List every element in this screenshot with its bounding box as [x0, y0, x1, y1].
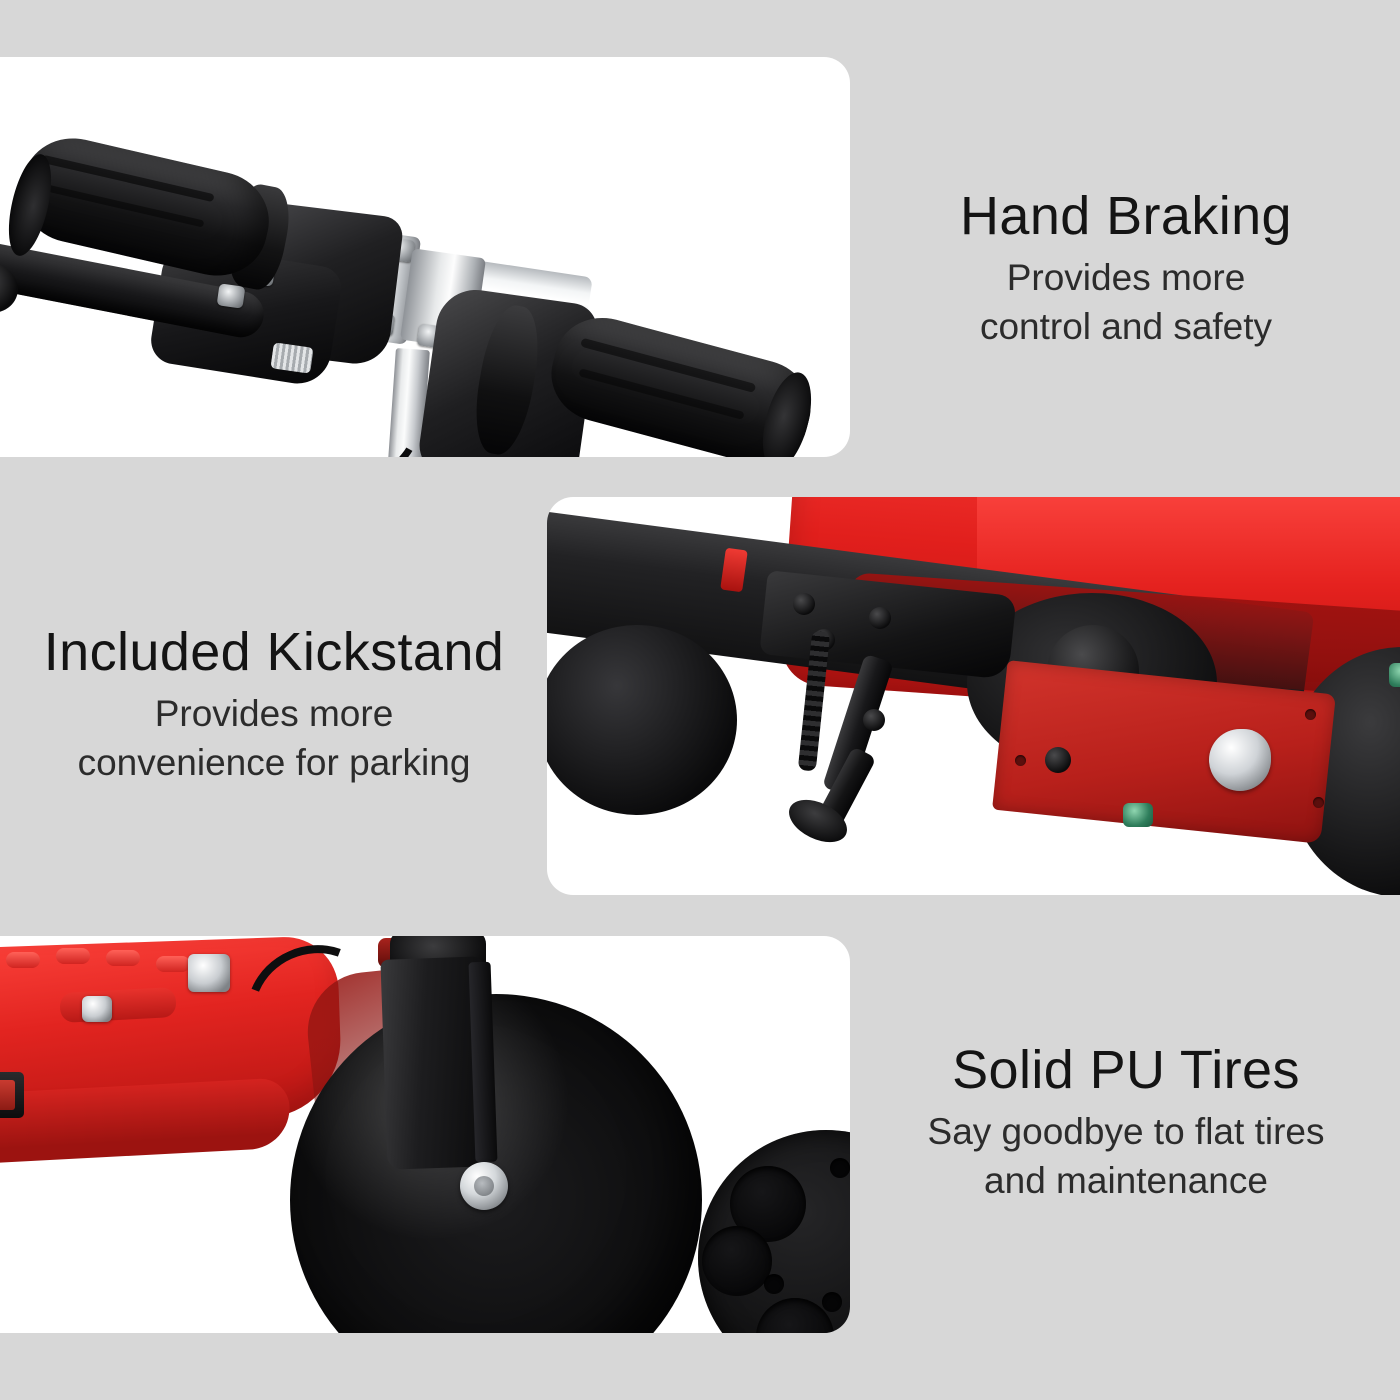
- feature-subline-line1: Provides more: [0, 690, 548, 738]
- vent-hole-1: [830, 1158, 850, 1178]
- deck-tread-rib-1: [6, 952, 40, 968]
- front-deck-lip: [0, 1077, 292, 1164]
- feature-text-included-kickstand: Included Kickstand Provides more conveni…: [0, 622, 548, 787]
- feature-photo-solid-pu-tires: [0, 936, 850, 1333]
- kickstand-pivot-bolt-icon: [863, 709, 885, 731]
- feature-photo-included-kickstand: [547, 497, 1400, 895]
- deck-bolt-pad: [59, 987, 176, 1023]
- wheel-axle-bolt: [460, 1162, 508, 1210]
- feature-subline-line1: Say goodbye to flat tires: [852, 1108, 1400, 1156]
- axle-silver-nut: [1209, 729, 1271, 791]
- front-wheel-partial: [547, 625, 737, 815]
- power-switch[interactable]: [0, 1072, 24, 1118]
- feature-text-solid-pu-tires: Solid PU Tires Say goodbye to flat tires…: [852, 1040, 1400, 1205]
- plate-hole-left-icon: [1015, 755, 1026, 766]
- feature-photo-hand-braking: [0, 57, 850, 457]
- deck-screw-left-icon: [82, 996, 112, 1022]
- green-bolt-left-icon: [1123, 803, 1153, 827]
- feature-subline-line2: control and safety: [852, 303, 1400, 351]
- infographic-stage: Hand Braking Provides more control and s…: [0, 0, 1400, 1400]
- bracket-bolt-right-icon: [869, 607, 891, 629]
- plate-dark-bolt-icon: [1045, 747, 1071, 773]
- feature-subline: Provides more convenience for parking: [0, 690, 548, 786]
- feature-subline-line1: Provides more: [852, 254, 1400, 302]
- vent-hole-3: [822, 1292, 842, 1312]
- deck-bolt-large-icon: [188, 954, 230, 992]
- feature-text-hand-braking: Hand Braking Provides more control and s…: [852, 186, 1400, 351]
- feature-subline: Say goodbye to flat tires and maintenanc…: [852, 1108, 1400, 1204]
- plate-hole-top-icon: [1305, 709, 1316, 720]
- deck-tread-rib-3: [106, 950, 140, 966]
- feature-subline: Provides more control and safety: [852, 254, 1400, 350]
- vent-hole-2: [764, 1274, 784, 1294]
- feature-headline: Solid PU Tires: [852, 1040, 1400, 1100]
- spoke-hole-5: [702, 1226, 772, 1296]
- feature-subline-line2: convenience for parking: [0, 739, 548, 787]
- plate-hole-bottom-icon: [1313, 797, 1324, 808]
- feature-subline-line2: and maintenance: [852, 1157, 1400, 1205]
- feature-headline: Hand Braking: [852, 186, 1400, 246]
- lever-screw-icon: [217, 283, 246, 308]
- green-bolt-right-icon: [1389, 663, 1400, 687]
- bracket-bolt-left-icon: [793, 593, 815, 615]
- deck-tread-rib-4: [156, 956, 190, 972]
- deck-tread-rib-2: [56, 948, 90, 964]
- feature-headline: Included Kickstand: [0, 622, 548, 682]
